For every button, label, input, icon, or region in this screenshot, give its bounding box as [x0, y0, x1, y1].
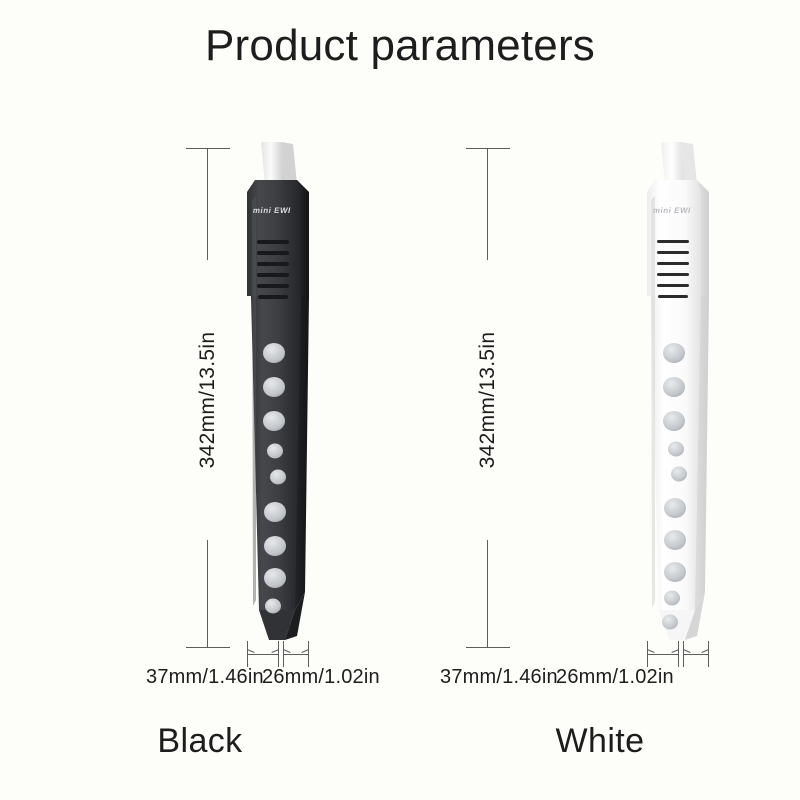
dimension-cap-top	[186, 148, 230, 149]
width-lower-label-white: 26mm/1.02in	[556, 666, 674, 689]
product-parameters-page: Product parameters 342mm/13.5in	[0, 0, 800, 800]
dimension-arrow-line	[247, 654, 279, 655]
instrument-black: mini EWI	[225, 140, 345, 660]
height-dimension-white: 342mm/13.5in	[458, 148, 518, 648]
width-lower-label-black: 26mm/1.02in	[262, 666, 380, 689]
product-white: 342mm/13.5in	[400, 0, 800, 800]
instrument-white: mini EWI	[625, 140, 745, 660]
width-lower-dimension-white	[683, 641, 709, 675]
product-black: 342mm/13.5in	[0, 0, 400, 800]
width-upper-label-black: 37mm/1.46in	[146, 666, 264, 689]
caption-white: White	[400, 722, 800, 761]
head-front-white	[647, 180, 701, 296]
dimension-arrow-line	[683, 654, 709, 655]
height-label-white: 342mm/13.5in	[474, 260, 502, 540]
height-label-black: 342mm/13.5in	[194, 260, 222, 540]
dimension-cap-top	[466, 148, 510, 149]
width-upper-label-white: 37mm/1.46in	[440, 666, 558, 689]
dimension-cap-bottom	[466, 647, 510, 648]
dimension-cap-bottom	[186, 647, 230, 648]
caption-black: Black	[0, 722, 400, 761]
mouthpiece-black	[261, 142, 285, 184]
dimension-arrow-line	[647, 654, 679, 655]
mouthpiece-white	[661, 142, 685, 184]
dimension-arrow-line	[283, 654, 309, 655]
